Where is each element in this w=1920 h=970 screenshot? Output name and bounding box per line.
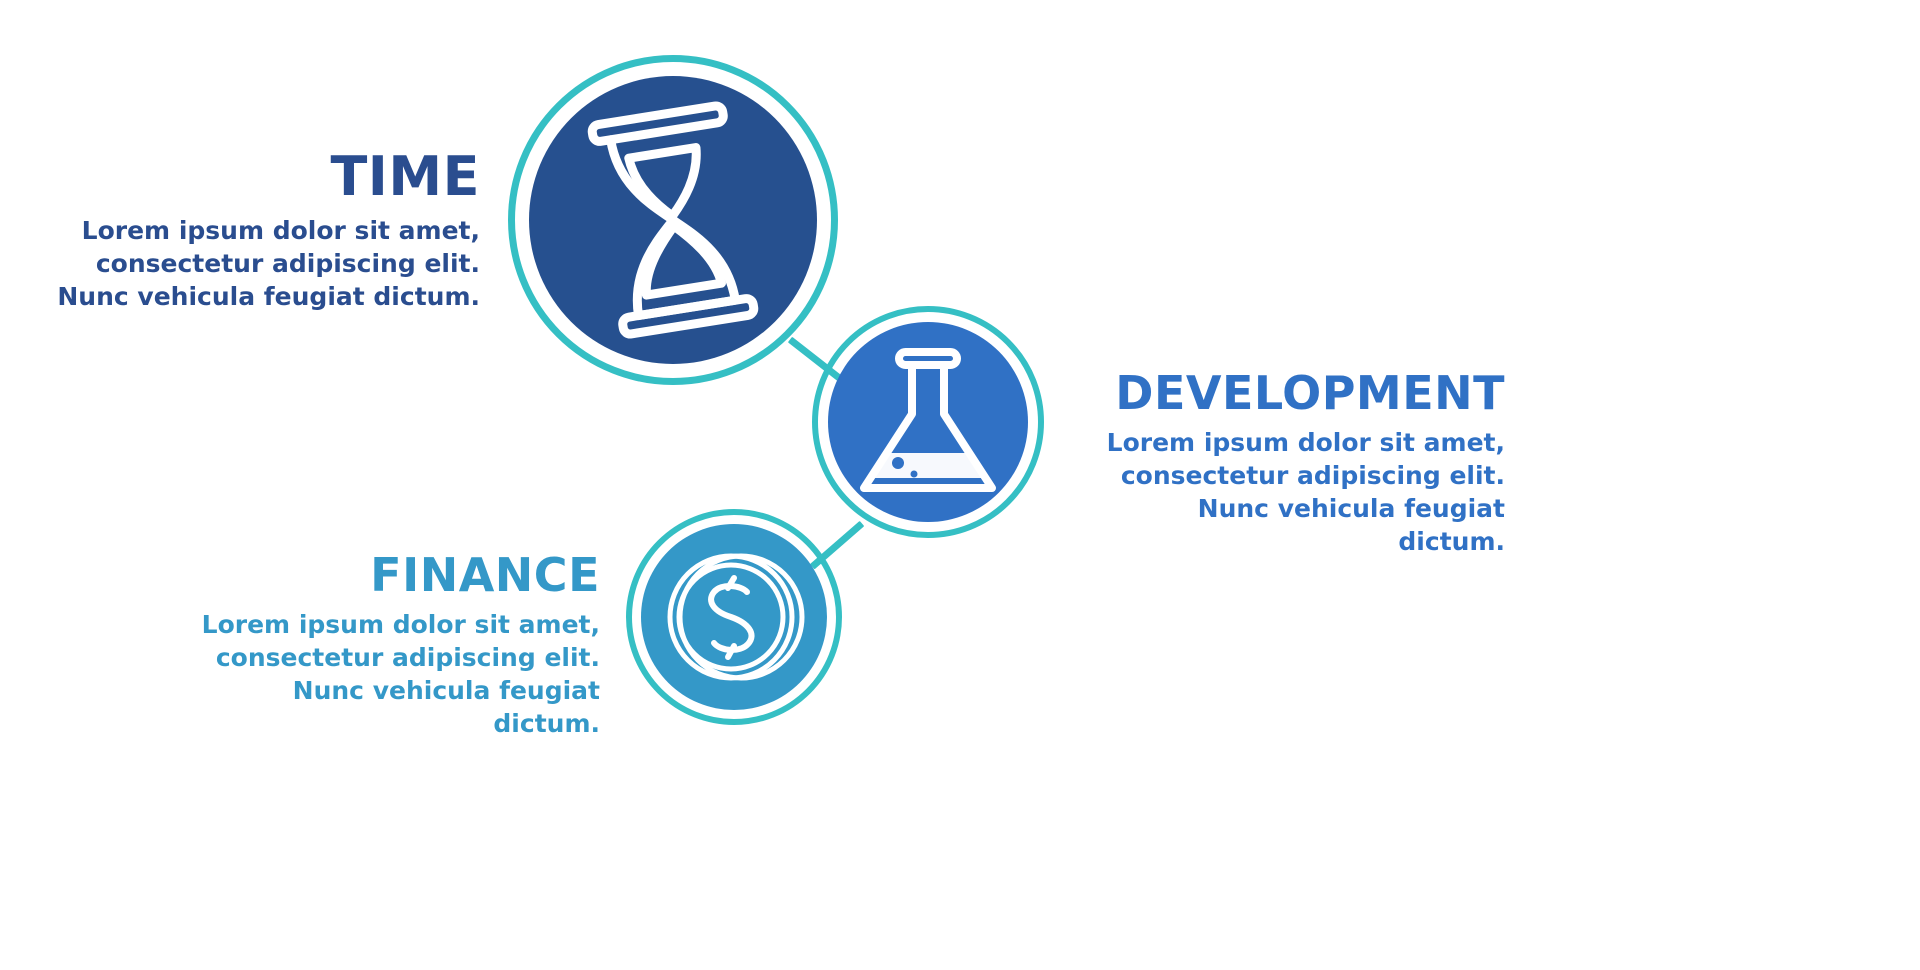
body-line: Nunc vehicula feugiat dictum. bbox=[180, 674, 600, 740]
body-line: consectetur adipiscing elit. bbox=[1085, 459, 1505, 492]
section-title-finance: FINANCE bbox=[180, 552, 600, 598]
section-body-time: Lorem ipsum dolor sit amet, consectetur … bbox=[40, 214, 480, 313]
body-line: Nunc vehicula feugiat dictum. bbox=[1085, 492, 1505, 558]
body-line: consectetur adipiscing elit. bbox=[180, 641, 600, 674]
section-title-time: TIME bbox=[40, 150, 480, 204]
dollar-coin-icon bbox=[641, 524, 827, 710]
node-finance-disc bbox=[641, 524, 827, 710]
text-block-time: TIME Lorem ipsum dolor sit amet, consect… bbox=[40, 150, 480, 313]
flask-icon bbox=[828, 322, 1028, 522]
body-line: consectetur adipiscing elit. bbox=[40, 247, 480, 280]
text-block-finance: FINANCE Lorem ipsum dolor sit amet, cons… bbox=[180, 552, 600, 740]
body-line: Lorem ipsum dolor sit amet, bbox=[1085, 426, 1505, 459]
node-development-disc bbox=[828, 322, 1028, 522]
node-finance[interactable] bbox=[626, 509, 842, 725]
body-line: Lorem ipsum dolor sit amet, bbox=[40, 214, 480, 247]
hourglass-icon bbox=[529, 76, 817, 364]
infographic-canvas: TIME Lorem ipsum dolor sit amet, consect… bbox=[0, 0, 1920, 970]
text-block-development: DEVELOPMENT Lorem ipsum dolor sit amet, … bbox=[1085, 370, 1505, 558]
node-time[interactable] bbox=[508, 55, 838, 385]
body-line: Nunc vehicula feugiat dictum. bbox=[40, 280, 480, 313]
node-development[interactable] bbox=[812, 306, 1044, 538]
node-time-disc bbox=[529, 76, 817, 364]
section-title-development: DEVELOPMENT bbox=[1085, 370, 1505, 416]
section-body-finance: Lorem ipsum dolor sit amet, consectetur … bbox=[180, 608, 600, 740]
body-line: Lorem ipsum dolor sit amet, bbox=[180, 608, 600, 641]
section-body-development: Lorem ipsum dolor sit amet, consectetur … bbox=[1085, 426, 1505, 558]
